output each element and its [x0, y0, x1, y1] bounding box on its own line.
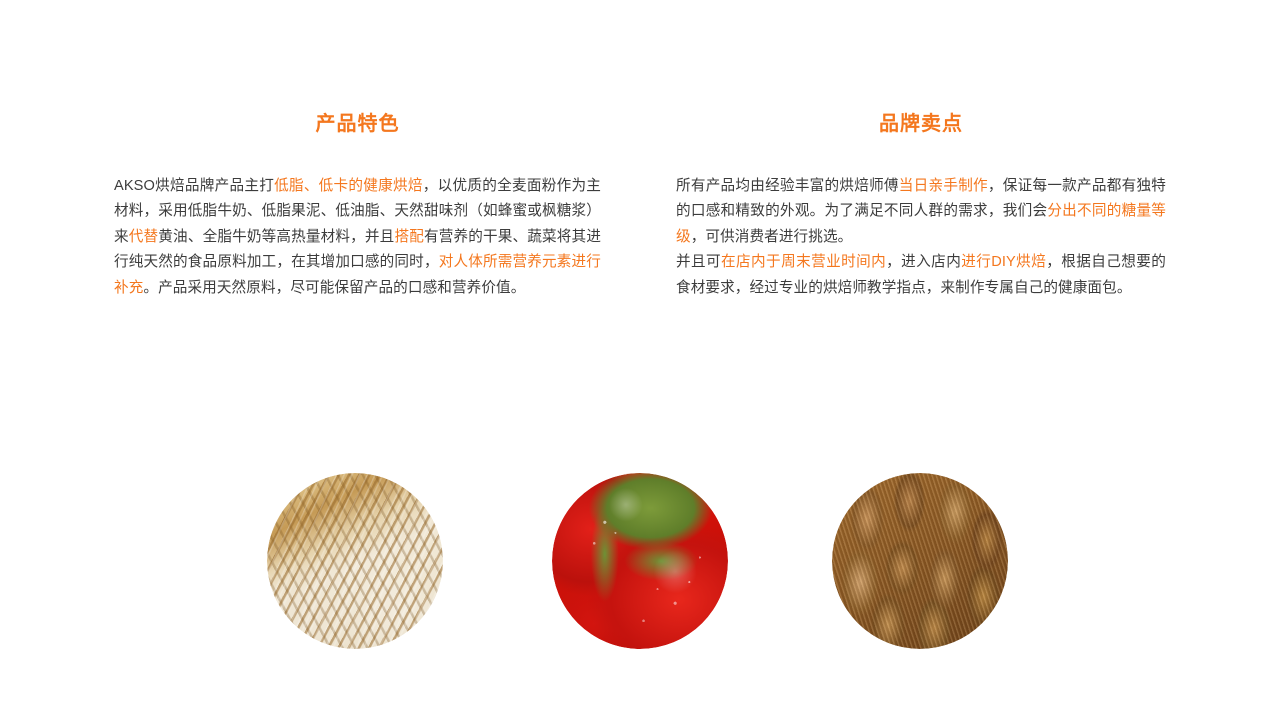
highlighted-text: 低脂、低卡的健康烘焙 — [274, 178, 423, 194]
product-features-paragraph: AKSO烘焙品牌产品主打低脂、低卡的健康烘焙，以优质的全麦面粉作为主材料，采用低… — [114, 174, 601, 301]
plain-text: 所有产品均由经验丰富的烘焙师傅 — [676, 178, 899, 194]
wheat-and-flour-photo — [267, 473, 443, 649]
plain-text: AKSO烘焙品牌产品主打 — [114, 178, 274, 194]
wheat-and-flour-image — [267, 473, 443, 649]
column-brand-selling-points: 品牌卖点 所有产品均由经验丰富的烘焙师傅当日亲手制作，保证每一款产品都有独特的口… — [676, 112, 1166, 301]
brand-selling-points-paragraph-2: 并且可在店内于周末营业时间内，进入店内进行DIY烘焙，根据自己想要的食材要求，经… — [676, 250, 1166, 301]
highlighted-text: 代替 — [129, 229, 159, 245]
tomatoes-image — [552, 473, 728, 649]
almonds-image — [832, 473, 1008, 649]
almonds-photo — [832, 473, 1008, 649]
plain-text: 并且可 — [676, 254, 721, 270]
highlighted-text: 在店内于周末营业时间内 — [721, 254, 886, 270]
product-feature-page: 产品特色 AKSO烘焙品牌产品主打低脂、低卡的健康烘焙，以优质的全麦面粉作为主材… — [0, 0, 1280, 720]
ingredient-photo-row — [0, 473, 1280, 653]
product-features-body: AKSO烘焙品牌产品主打低脂、低卡的健康烘焙，以优质的全麦面粉作为主材料，采用低… — [114, 174, 601, 301]
highlighted-text: 进行DIY烘焙 — [961, 254, 1046, 270]
text-columns: 产品特色 AKSO烘焙品牌产品主打低脂、低卡的健康烘焙，以优质的全麦面粉作为主材… — [0, 112, 1280, 301]
plain-text: ，可供消费者进行挑选。 — [691, 229, 853, 245]
tomatoes-photo — [552, 473, 728, 649]
plain-text: 黄油、全脂牛奶等高热量材料，并且 — [158, 229, 394, 245]
plain-text: 。产品采用天然原料，尽可能保留产品的口感和营养价值。 — [143, 280, 525, 296]
column-product-features: 产品特色 AKSO烘焙品牌产品主打低脂、低卡的健康烘焙，以优质的全麦面粉作为主材… — [114, 112, 601, 301]
product-features-heading: 产品特色 — [114, 112, 601, 136]
brand-selling-points-body: 所有产品均由经验丰富的烘焙师傅当日亲手制作，保证每一款产品都有独特的口感和精致的… — [676, 174, 1166, 301]
brand-selling-points-heading: 品牌卖点 — [676, 112, 1166, 136]
plain-text: ，进入店内 — [886, 254, 961, 270]
brand-selling-points-paragraph-1: 所有产品均由经验丰富的烘焙师傅当日亲手制作，保证每一款产品都有独特的口感和精致的… — [676, 174, 1166, 250]
highlighted-text: 当日亲手制作 — [899, 178, 988, 194]
highlighted-text: 搭配 — [394, 229, 424, 245]
